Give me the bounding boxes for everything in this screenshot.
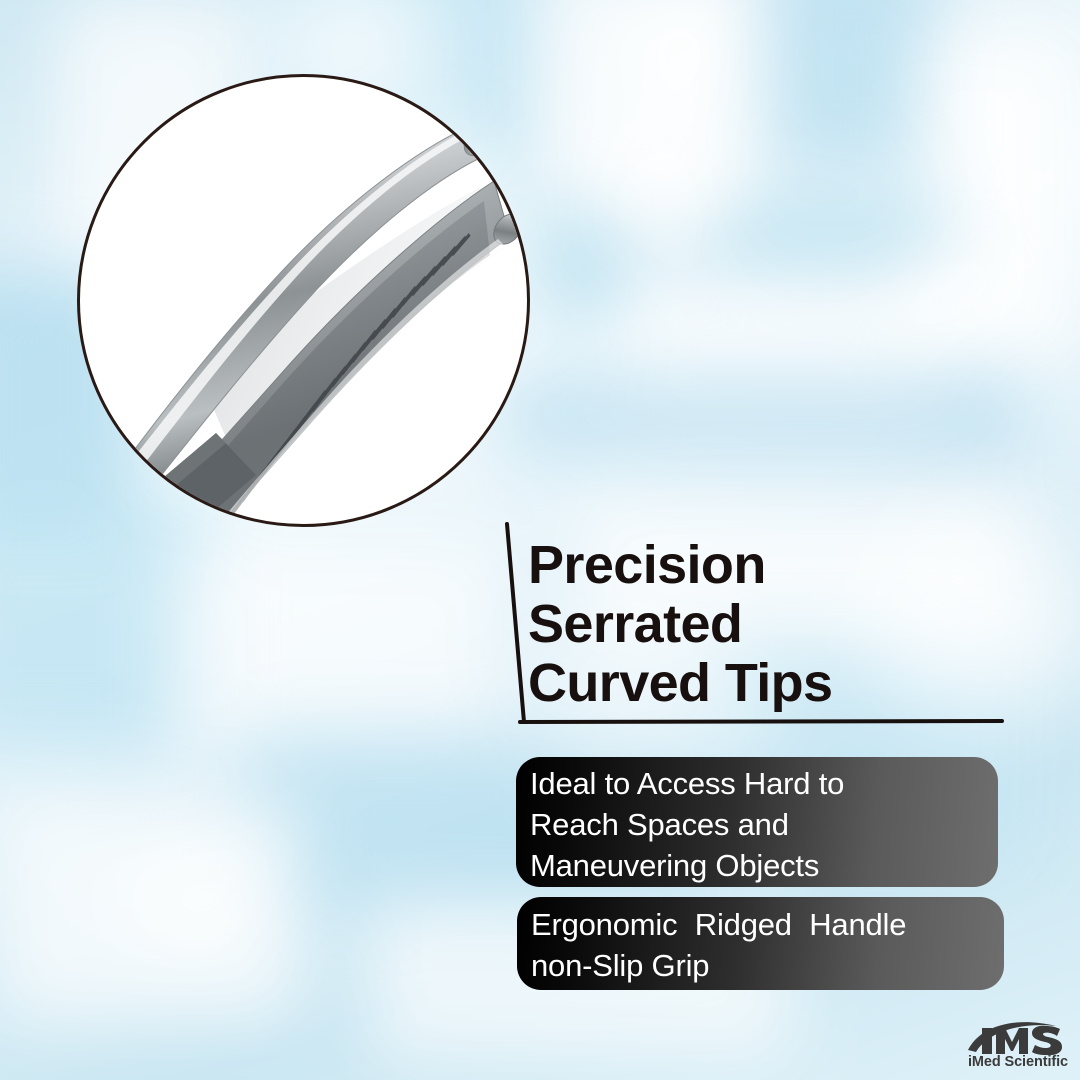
- brand-logo: iMed Scientific: [962, 1014, 1068, 1072]
- title-line-1: Precision: [528, 536, 1028, 595]
- feature-badge-access: Ideal to Access Hard to Reach Spaces and…: [516, 757, 998, 887]
- badge-1-line-1: Ideal to Access Hard to: [530, 763, 998, 804]
- title-line-3: Curved Tips: [528, 654, 1028, 713]
- magnifier-circle: [77, 74, 530, 527]
- magnifier-content: [80, 77, 527, 524]
- page-title: Precision Serrated Curved Tips: [528, 536, 1028, 713]
- badge-2-line-1: Ergonomic Ridged Handle: [531, 904, 1004, 945]
- poster-canvas: Precision Serrated Curved Tips Ideal to …: [0, 0, 1080, 1080]
- title-line-2: Serrated: [528, 595, 1028, 654]
- feature-badge-ergonomic: Ergonomic Ridged Handle non-Slip Grip: [517, 897, 1004, 990]
- ims-logo-icon: [962, 1014, 1068, 1056]
- badge-1-line-3: Maneuvering Objects: [530, 845, 998, 886]
- forceps-tips-illustration: [80, 77, 527, 524]
- badge-1-line-2: Reach Spaces and: [530, 804, 998, 845]
- badge-2-line-2: non-Slip Grip: [531, 945, 1004, 986]
- logo-tagline: iMed Scientific: [962, 1054, 1068, 1070]
